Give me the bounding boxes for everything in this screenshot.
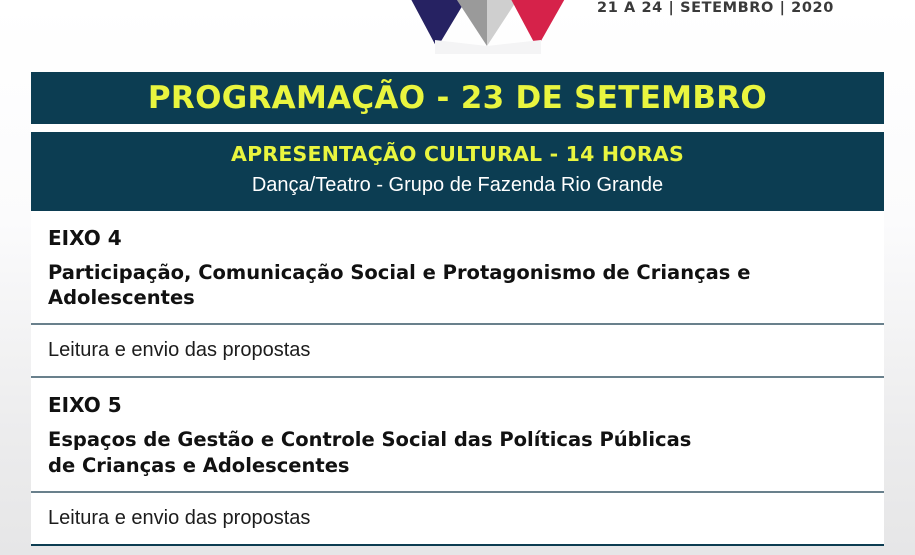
cultural-presentation-band: APRESENTAÇÃO CULTURAL - 14 HORAS Dança/T…: [31, 132, 884, 211]
eixo-description: Espaços de Gestão e Controle Social das …: [48, 427, 708, 478]
eixo-label: EIXO 5: [48, 392, 884, 419]
eixo-description: Participação, Comunicação Social e Prota…: [48, 260, 878, 311]
poster-header: 21 A 24 | SETEMBRO | 2020: [0, 0, 915, 72]
eixo-label: EIXO 4: [48, 225, 884, 252]
schedule-row-activity-1: Leitura e envio das propostas: [31, 325, 884, 378]
band-divider: [31, 124, 884, 132]
poster-content: PROGRAMAÇÃO - 23 DE SETEMBRO APRESENTAÇÃ…: [31, 72, 884, 546]
programming-title-band: PROGRAMAÇÃO - 23 DE SETEMBRO: [31, 72, 884, 124]
programacao-poster: 21 A 24 | SETEMBRO | 2020 PROGRAMAÇÃO - …: [0, 0, 915, 555]
event-date: 21 A 24 | SETEMBRO | 2020: [597, 0, 834, 16]
conference-star-logo: [395, 0, 580, 54]
schedule-list: EIXO 4 Participação, Comunicação Social …: [31, 211, 884, 546]
cultural-presentation-title: APRESENTAÇÃO CULTURAL - 14 HORAS: [31, 142, 884, 168]
schedule-row-activity-2: Leitura e envio das propostas: [31, 493, 884, 546]
schedule-row-eixo-5: EIXO 5 Espaços de Gestão e Controle Soci…: [31, 378, 884, 492]
schedule-row-eixo-4: EIXO 4 Participação, Comunicação Social …: [31, 211, 884, 325]
cultural-presentation-subtitle: Dança/Teatro - Grupo de Fazenda Rio Gran…: [31, 172, 884, 198]
